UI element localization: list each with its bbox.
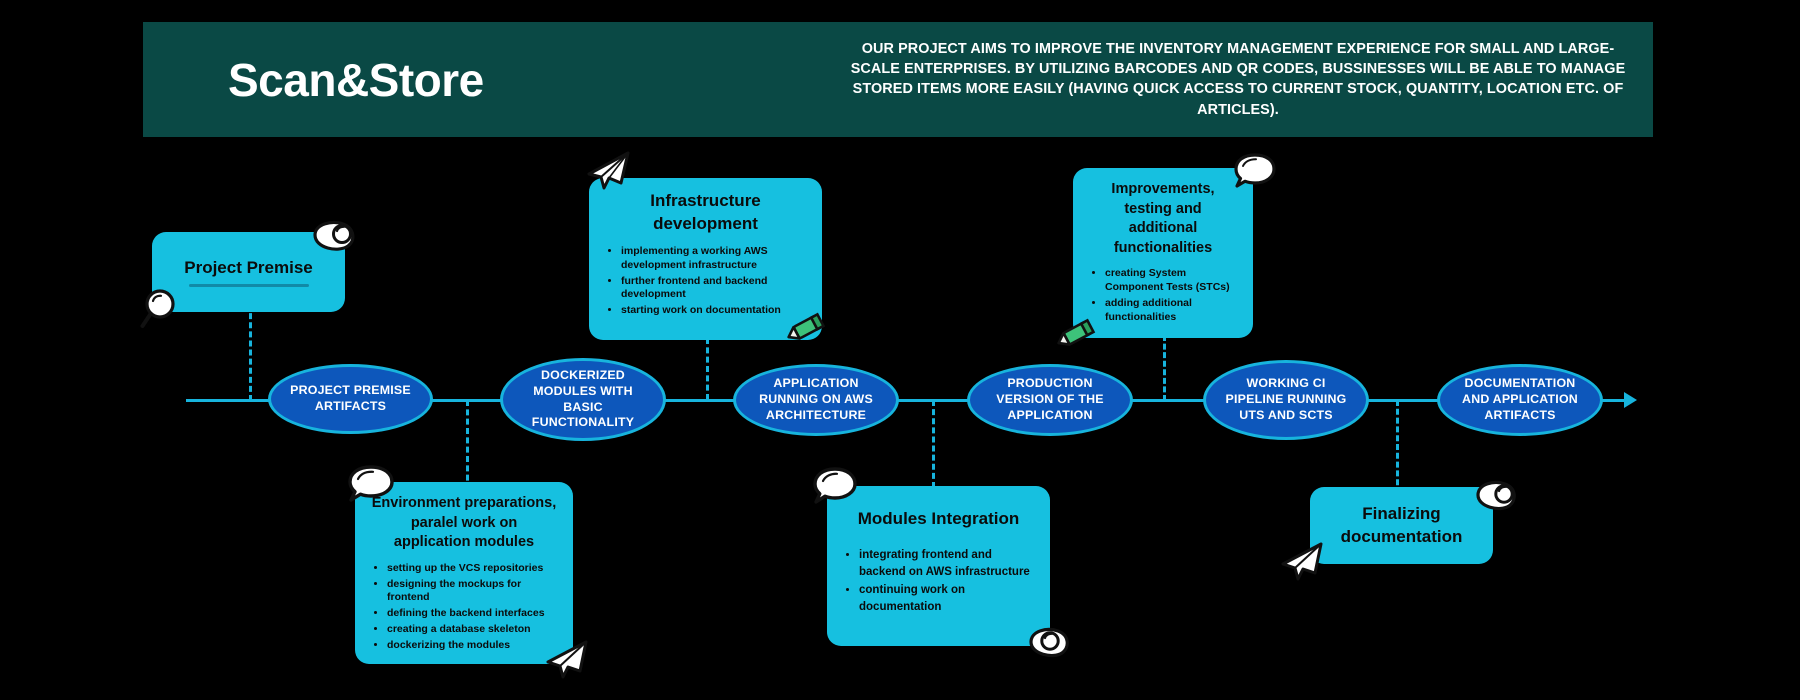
card-bullet-list: integrating frontend and backend on AWS … <box>843 547 1034 616</box>
timeline-arrow-icon <box>1624 392 1637 408</box>
connector-infrastructure-development <box>706 338 709 400</box>
card-title: Environment preparations, paralel work o… <box>371 494 557 553</box>
timeline-node-label: DOCKERIZED MODULES WITH BASIC FUNCTIONAL… <box>513 368 653 432</box>
list-item: designing the mockups for frontend <box>387 578 557 606</box>
timeline-node-label: DOCUMENTATION AND APPLICATION ARTIFACTS <box>1450 376 1590 424</box>
list-item: creating System Component Tests (STCs) <box>1105 267 1237 295</box>
list-item: further frontend and backend development <box>621 275 806 303</box>
list-item: starting work on documentation <box>621 304 806 318</box>
magnifier-icon <box>140 288 180 330</box>
list-item: implementing a working AWS development i… <box>621 245 806 273</box>
card-title: Improvements, testing and additional fun… <box>1089 180 1237 258</box>
list-item: setting up the VCS repositories <box>387 562 557 576</box>
list-item: defining the backend interfaces <box>387 607 557 621</box>
card-modules-integration[interactable]: Modules Integration integrating frontend… <box>827 486 1050 646</box>
eye-icon <box>312 218 358 252</box>
card-title-underline <box>189 284 309 287</box>
timeline-node-2[interactable]: DOCKERIZED MODULES WITH BASIC FUNCTIONAL… <box>500 358 666 441</box>
card-title: Finalizing documentation <box>1326 503 1477 549</box>
timeline-node-5[interactable]: WORKING CI PIPELINE RUNNING UTS AND SCTS <box>1203 360 1369 440</box>
pencil-icon <box>786 312 828 346</box>
connector-improvements-testing <box>1163 335 1166 401</box>
timeline-node-4[interactable]: PRODUCTION VERSION OF THE APPLICATION <box>967 364 1133 436</box>
card-improvements-testing[interactable]: Improvements, testing and additional fun… <box>1073 168 1253 338</box>
timeline-node-label: PRODUCTION VERSION OF THE APPLICATION <box>980 376 1120 424</box>
timeline-node-3[interactable]: APPLICATION RUNNING ON AWS ARCHITECTURE <box>733 364 899 436</box>
speech-bubble-icon <box>812 466 858 508</box>
timeline-node-label: APPLICATION RUNNING ON AWS ARCHITECTURE <box>746 376 886 424</box>
card-environment-preparations[interactable]: Environment preparations, paralel work o… <box>355 482 573 664</box>
speech-bubble-icon <box>347 464 395 506</box>
paper-plane-icon <box>545 638 589 680</box>
page-title: Scan&Store <box>228 53 484 107</box>
list-item: creating a database skeleton <box>387 623 557 637</box>
paper-plane-icon <box>1280 540 1324 582</box>
timeline-node-label: PROJECT PREMISE ARTIFACTS <box>281 383 420 415</box>
list-item: continuing work on documentation <box>859 582 1034 615</box>
list-item: integrating frontend and backend on AWS … <box>859 547 1034 580</box>
pencil-icon <box>1056 318 1098 352</box>
card-title: Infrastructure development <box>605 190 806 236</box>
card-bullet-list: implementing a working AWS development i… <box>605 245 806 318</box>
connector-modules-integration <box>932 400 935 488</box>
connector-finalizing-documentation <box>1396 400 1399 494</box>
eye-icon <box>1475 478 1519 512</box>
paper-plane-icon <box>585 150 631 192</box>
timeline-node-6[interactable]: DOCUMENTATION AND APPLICATION ARTIFACTS <box>1437 364 1603 436</box>
connector-environment-preparations <box>466 400 469 490</box>
timeline-node-label: WORKING CI PIPELINE RUNNING UTS AND SCTS <box>1216 376 1356 424</box>
list-item: adding additional functionalities <box>1105 297 1237 325</box>
card-finalizing-documentation[interactable]: Finalizing documentation <box>1310 487 1493 564</box>
card-title: Project Premise <box>168 257 329 280</box>
list-item: dockerizing the modules <box>387 639 557 653</box>
eye-icon <box>1028 625 1072 659</box>
header-description: OUR PROJECT AIMS TO IMPROVE THE INVENTOR… <box>843 39 1633 121</box>
header-banner: Scan&Store OUR PROJECT AIMS TO IMPROVE T… <box>143 22 1653 137</box>
card-title: Modules Integration <box>843 508 1034 531</box>
card-bullet-list: setting up the VCS repositories designin… <box>371 562 557 653</box>
diagram-canvas: Scan&Store OUR PROJECT AIMS TO IMPROVE T… <box>0 0 1800 700</box>
speech-bubble-icon <box>1233 152 1277 192</box>
card-bullet-list: creating System Component Tests (STCs) a… <box>1089 267 1237 324</box>
timeline-node-1[interactable]: PROJECT PREMISE ARTIFACTS <box>268 364 433 434</box>
